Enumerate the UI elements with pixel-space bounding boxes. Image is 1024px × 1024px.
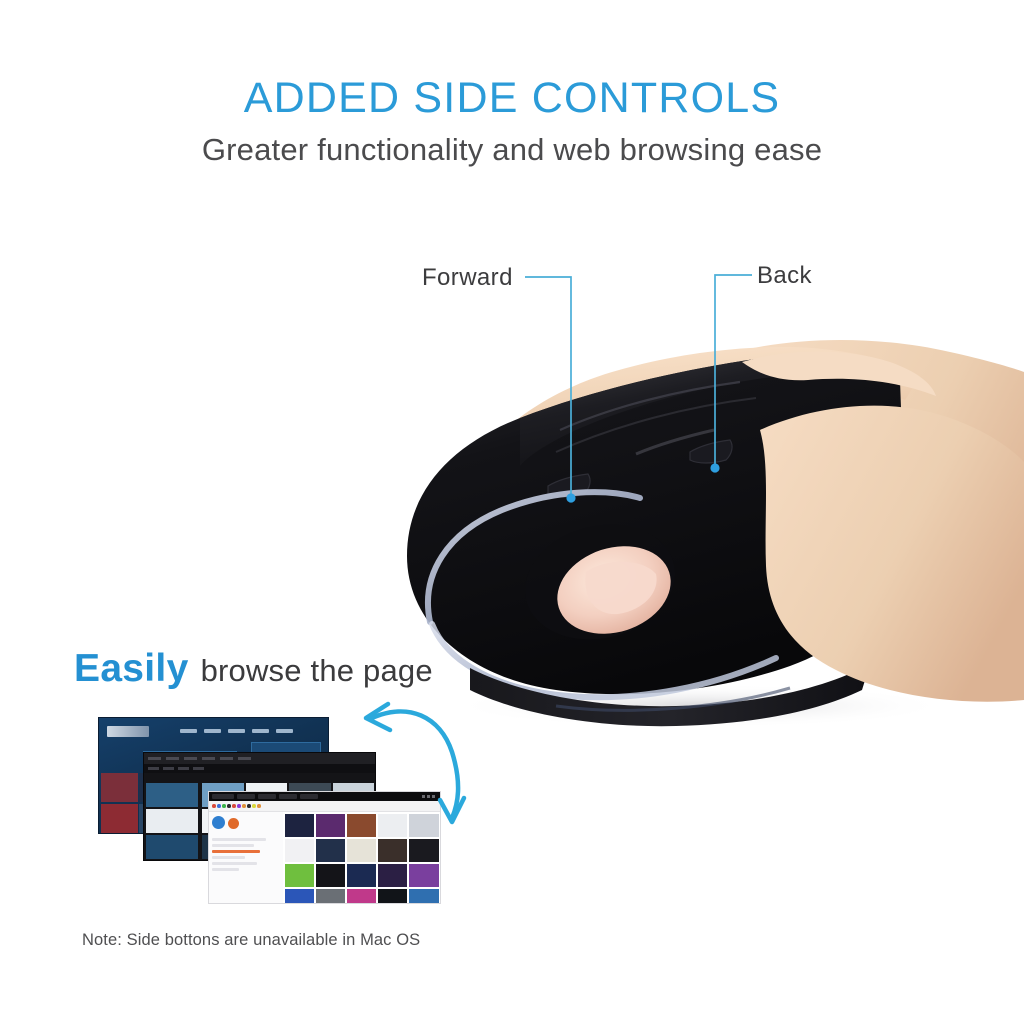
mouse-scroll-seam bbox=[636, 430, 714, 454]
hand-thumb bbox=[546, 532, 682, 648]
thumbnail-tile bbox=[347, 864, 377, 888]
thumbnail-tile bbox=[378, 864, 408, 888]
thumbnail-tile bbox=[316, 839, 346, 863]
thumbnail-tile bbox=[409, 889, 439, 905]
callout-label-back: Back bbox=[757, 262, 812, 290]
thumbnail-tile bbox=[285, 814, 315, 838]
mouse-button-seam-2 bbox=[556, 398, 756, 452]
accent-swoosh-lower bbox=[432, 624, 776, 697]
thumbnail-tile bbox=[347, 889, 377, 905]
callout-dot-forward bbox=[566, 493, 575, 502]
front-window-body bbox=[209, 812, 440, 904]
thumbnail-tile bbox=[146, 783, 198, 807]
page-title: ADDED SIDE CONTROLS bbox=[0, 74, 1024, 123]
side-button-forward bbox=[548, 474, 590, 497]
thumbnail-tile bbox=[378, 839, 408, 863]
leader-line-back bbox=[715, 275, 752, 464]
thumbnail-tile bbox=[316, 814, 346, 838]
thumbnail-tile bbox=[316, 889, 346, 905]
callout-label-forward: Forward bbox=[422, 264, 513, 292]
mid-window-toolbar bbox=[144, 753, 375, 764]
thumb-rest bbox=[513, 509, 688, 654]
accent-swoosh bbox=[428, 492, 640, 622]
thumbnail-tile bbox=[146, 835, 198, 859]
thumbnail-tile bbox=[409, 864, 439, 888]
front-window-controls bbox=[422, 795, 437, 798]
side-button-back bbox=[690, 440, 732, 463]
thumbnail-tile bbox=[347, 814, 377, 838]
back-window-header bbox=[99, 718, 328, 744]
thumbnail-tile bbox=[285, 864, 315, 888]
back-window-logo bbox=[107, 726, 149, 737]
thumbnail-tile bbox=[285, 889, 315, 905]
arrowhead-lower-right bbox=[440, 798, 464, 822]
thumbnail-tile bbox=[285, 839, 315, 863]
mouse-body bbox=[407, 355, 905, 726]
hand-palm bbox=[760, 406, 1024, 702]
thumbnail-tile bbox=[101, 804, 138, 833]
mouse-base bbox=[470, 664, 870, 726]
mouse-base-trim bbox=[556, 688, 790, 710]
thumbnail-tile bbox=[101, 773, 138, 802]
page-subtitle: Greater functionality and web browsing e… bbox=[0, 132, 1024, 168]
thumbnail-tile bbox=[409, 839, 439, 863]
hand-forearm bbox=[735, 340, 1024, 692]
front-window-tabbar bbox=[209, 792, 440, 801]
mouse-button-seam-1 bbox=[560, 382, 740, 430]
thumbnail-tile bbox=[316, 864, 346, 888]
back-window-nav bbox=[180, 729, 293, 733]
thumb-nail bbox=[585, 562, 656, 614]
front-window-dot-row bbox=[212, 804, 261, 808]
callout-dot-back bbox=[710, 463, 719, 472]
thumbnail-tile bbox=[378, 814, 408, 838]
feature-rest-text: browse the page bbox=[201, 653, 433, 689]
mouse-top-shell bbox=[520, 355, 898, 466]
front-window-tile-grid bbox=[283, 812, 440, 904]
leader-line-forward bbox=[525, 277, 571, 494]
front-window-left-pane bbox=[209, 812, 283, 904]
hand-index-finger bbox=[742, 352, 936, 397]
hand-knuckles bbox=[470, 347, 920, 470]
feature-highlight-word: Easily bbox=[74, 647, 189, 691]
browser-window-front bbox=[208, 791, 441, 904]
thumbnail-tile bbox=[409, 814, 439, 838]
arrowhead-upper-left bbox=[366, 704, 390, 730]
product-marketing-image: ADDED SIDE CONTROLS Greater functionalit… bbox=[0, 0, 1024, 1024]
thumbnail-tile bbox=[347, 839, 377, 863]
mid-window-sidebar-thumbs bbox=[146, 783, 198, 859]
thumbnail-tile bbox=[378, 889, 408, 905]
footnote-text: Note: Side bottons are unavailable in Ma… bbox=[82, 931, 420, 950]
mid-window-subbar bbox=[144, 764, 375, 773]
feature-tagline: Easily browse the page bbox=[74, 647, 433, 691]
front-window-toolbar bbox=[209, 801, 440, 812]
thumbnail-tile bbox=[146, 809, 198, 833]
